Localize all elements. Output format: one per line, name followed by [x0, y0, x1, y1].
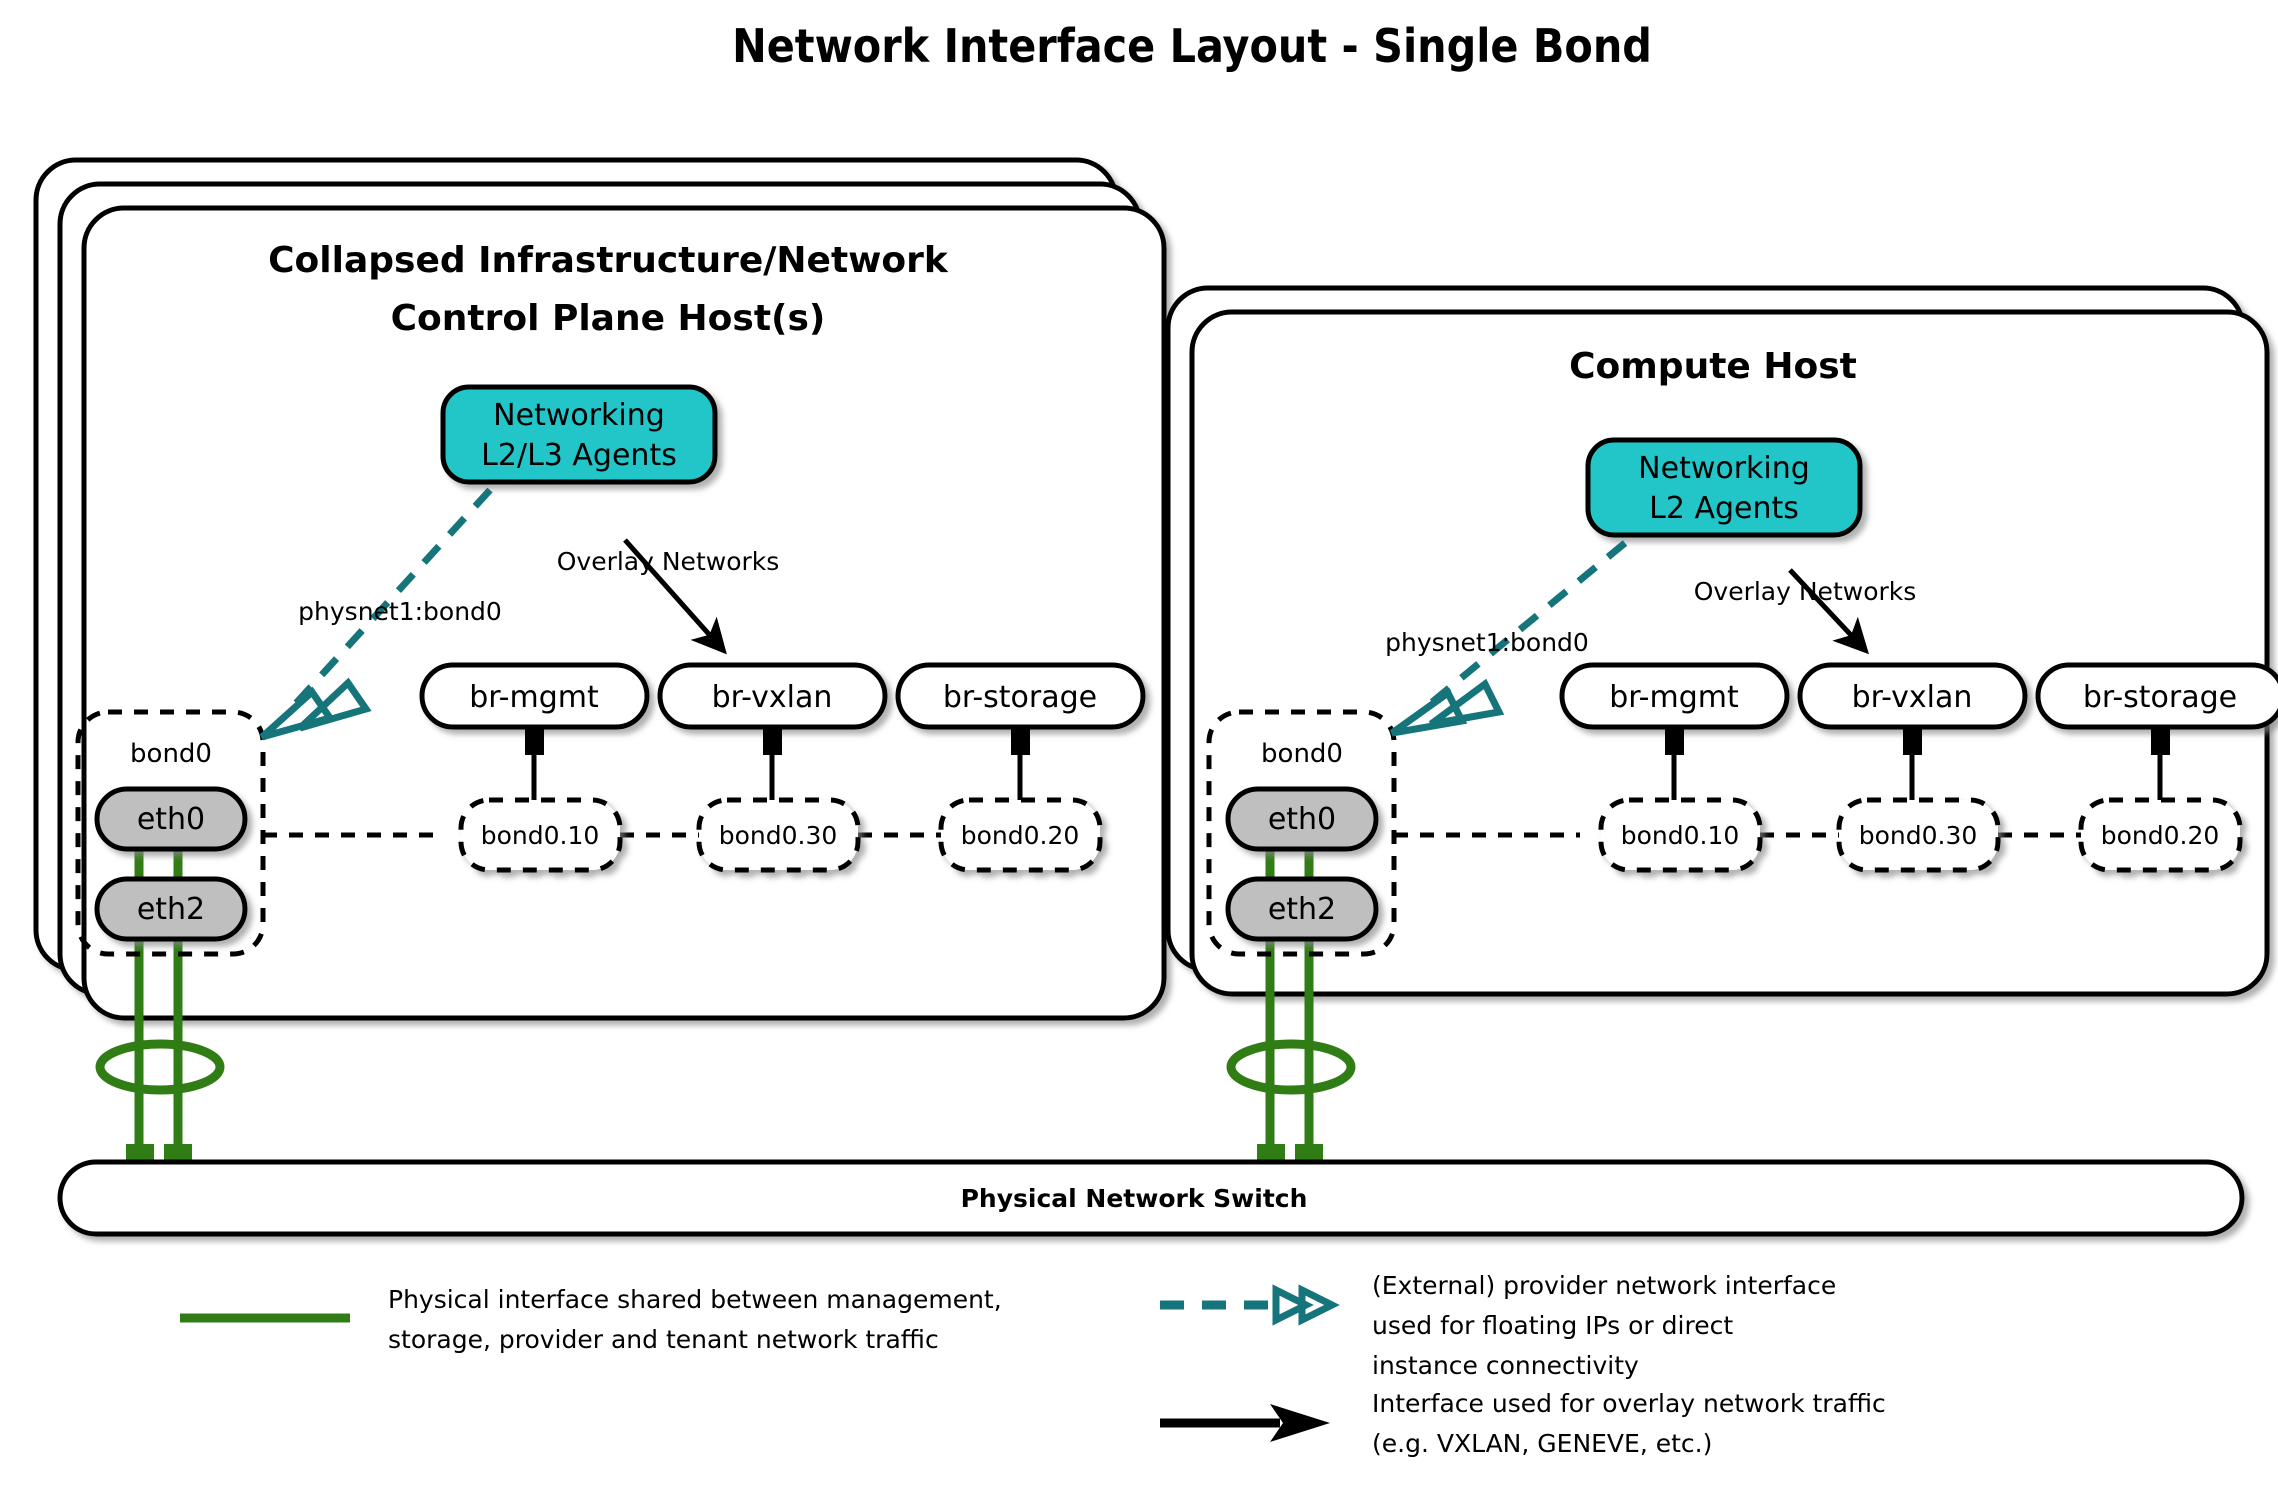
bond0.20-label-compute: bond0.20: [2101, 821, 2220, 850]
legend-physical-line-1: Physical interface shared between manage…: [388, 1285, 1002, 1314]
cable-bundle-ring-compute: [1231, 1044, 1351, 1090]
compute-host-title: Compute Host: [1569, 346, 1857, 387]
bond0.10-label-compute: bond0.10: [1621, 821, 1740, 850]
bond0-label-control-plane: bond0: [130, 739, 212, 769]
legend-physical-line-2: storage, provider and tenant network tra…: [388, 1325, 939, 1354]
physnet-label-control-plane: physnet1:bond0: [298, 597, 502, 626]
bond0.20-label-control-plane: bond0.20: [961, 821, 1080, 850]
agents-label-line2-control-plane: L2/L3 Agents: [481, 438, 677, 473]
page-title: Network Interface Layout - Single Bond: [732, 19, 1652, 73]
br-storage-label-control-plane: br-storage: [943, 680, 1097, 715]
bond0-label-compute: bond0: [1261, 739, 1343, 769]
legend-item-overlay-interface: Interface used for overlay network traff…: [1160, 1389, 1886, 1458]
legend-provider-line-3: instance connectivity: [1372, 1351, 1639, 1380]
control-plane-host-title-line1: Collapsed Infrastructure/Network: [268, 240, 949, 281]
legend-overlay-line-2: (e.g. VXLAN, GENEVE, etc.): [1372, 1429, 1712, 1458]
eth0-label-control-plane: eth0: [137, 802, 205, 837]
bond0.30-label-compute: bond0.30: [1859, 821, 1978, 850]
legend-item-physical-interface: Physical interface shared between manage…: [180, 1285, 1002, 1354]
br-vxlan-label-compute: br-vxlan: [1852, 680, 1973, 715]
control-plane-host-title-line2: Control Plane Host(s): [391, 298, 826, 339]
legend-provider-line-1: (External) provider network interface: [1372, 1271, 1836, 1300]
overlay-label-compute: Overlay Networks: [1694, 577, 1917, 606]
eth2-label-compute: eth2: [1268, 892, 1336, 927]
physical-switch-label: Physical Network Switch: [961, 1184, 1308, 1213]
bond0.30-label-control-plane: bond0.30: [719, 821, 838, 850]
agents-label-line2-compute: L2 Agents: [1649, 491, 1799, 526]
agents-label-line1-control-plane: Networking: [493, 398, 665, 433]
physnet-label-compute: physnet1:bond0: [1385, 628, 1589, 657]
br-vxlan-label-control-plane: br-vxlan: [712, 680, 833, 715]
bond0.10-label-control-plane: bond0.10: [481, 821, 600, 850]
agents-label-line1-compute: Networking: [1638, 451, 1810, 486]
br-storage-label-compute: br-storage: [2083, 680, 2237, 715]
eth0-label-compute: eth0: [1268, 802, 1336, 837]
overlay-label-control-plane: Overlay Networks: [557, 547, 780, 576]
br-mgmt-label-control-plane: br-mgmt: [469, 680, 599, 715]
legend-provider-line-2: used for floating IPs or direct: [1372, 1311, 1733, 1340]
diagram-canvas: Network Interface Layout - Single Bond C…: [0, 0, 2278, 1492]
legend: Physical interface shared between manage…: [180, 1271, 1886, 1458]
br-mgmt-label-compute: br-mgmt: [1609, 680, 1739, 715]
eth2-label-control-plane: eth2: [137, 892, 205, 927]
network-diagram: Network Interface Layout - Single Bond C…: [0, 0, 2278, 1492]
cable-bundle-ring: [100, 1044, 220, 1090]
legend-item-provider-interface: (External) provider network interface us…: [1160, 1271, 1836, 1380]
legend-overlay-line-1: Interface used for overlay network traff…: [1372, 1389, 1886, 1418]
